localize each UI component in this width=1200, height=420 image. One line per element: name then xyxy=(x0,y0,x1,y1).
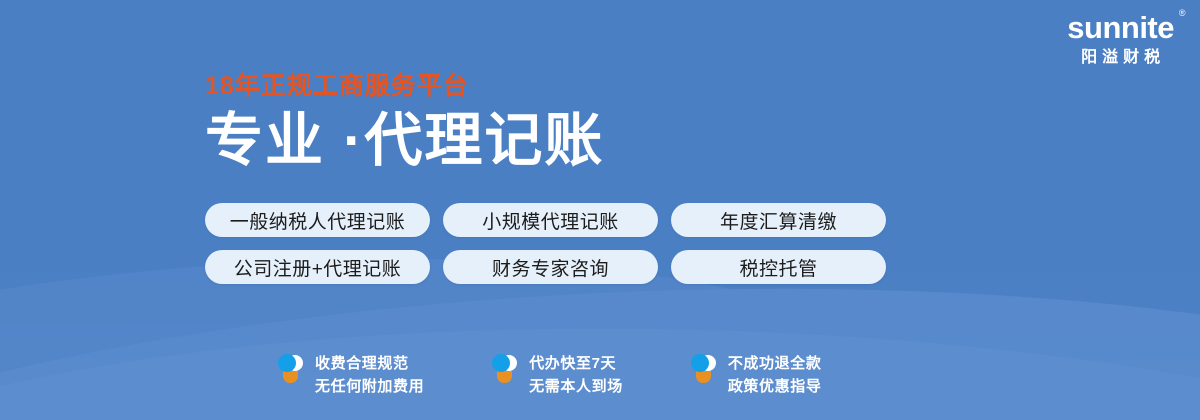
lightbulb-bulb-shape xyxy=(278,354,296,372)
service-pill[interactable]: 一般纳税人代理记账 xyxy=(205,203,430,237)
lightbulb-base-shape xyxy=(497,371,512,383)
feature-item: 不成功退全款 政策优惠指导 xyxy=(689,352,822,399)
feature-line-1: 代办快至7天 xyxy=(529,352,623,375)
service-pill[interactable]: 公司注册+代理记账 xyxy=(205,250,430,284)
service-pill[interactable]: 小规模代理记账 xyxy=(443,203,658,237)
service-pill[interactable]: 财务专家咨询 xyxy=(443,250,658,284)
logo-wordmark: sunnite® xyxy=(1067,12,1174,43)
feature-item: 代办快至7天 无需本人到场 xyxy=(490,352,623,399)
lightbulb-bulb-shape xyxy=(691,354,709,372)
promotional-banner: sunnite® 阳溢财税 18年正规工商服务平台 专业 ·代理记账 一般纳税人… xyxy=(0,0,1200,420)
feature-line-2: 无需本人到场 xyxy=(529,375,623,398)
lightbulb-icon xyxy=(276,353,306,385)
feature-text: 收费合理规范 无任何附加费用 xyxy=(315,352,424,399)
feature-line-1: 不成功退全款 xyxy=(728,352,822,375)
hero-text-block: 18年正规工商服务平台 专业 ·代理记账 xyxy=(205,72,604,174)
feature-text: 代办快至7天 无需本人到场 xyxy=(529,352,623,399)
hero-eyebrow: 18年正规工商服务平台 xyxy=(205,72,604,101)
logo-chinese-name: 阳溢财税 xyxy=(1067,50,1174,66)
feature-line-2: 无任何附加费用 xyxy=(315,375,424,398)
lightbulb-base-shape xyxy=(696,371,711,383)
lightbulb-base-shape xyxy=(283,371,298,383)
brand-logo[interactable]: sunnite® 阳溢财税 xyxy=(1067,12,1174,66)
feature-line-1: 收费合理规范 xyxy=(315,352,424,375)
lightbulb-icon xyxy=(490,353,520,385)
service-pill[interactable]: 年度汇算清缴 xyxy=(671,203,886,237)
service-pill[interactable]: 税控托管 xyxy=(671,250,886,284)
feature-line-2: 政策优惠指导 xyxy=(728,375,822,398)
service-pill-grid: 一般纳税人代理记账 小规模代理记账 年度汇算清缴 公司注册+代理记账 财务专家咨… xyxy=(205,203,886,284)
feature-text: 不成功退全款 政策优惠指导 xyxy=(728,352,822,399)
page-title: 专业 ·代理记账 xyxy=(205,109,604,174)
registered-trademark-icon: ® xyxy=(1179,9,1185,18)
lightbulb-icon xyxy=(689,353,719,385)
feature-list: 收费合理规范 无任何附加费用 代办快至7天 无需本人到场 不成功退全款 xyxy=(276,352,821,399)
feature-item: 收费合理规范 无任何附加费用 xyxy=(276,352,424,399)
